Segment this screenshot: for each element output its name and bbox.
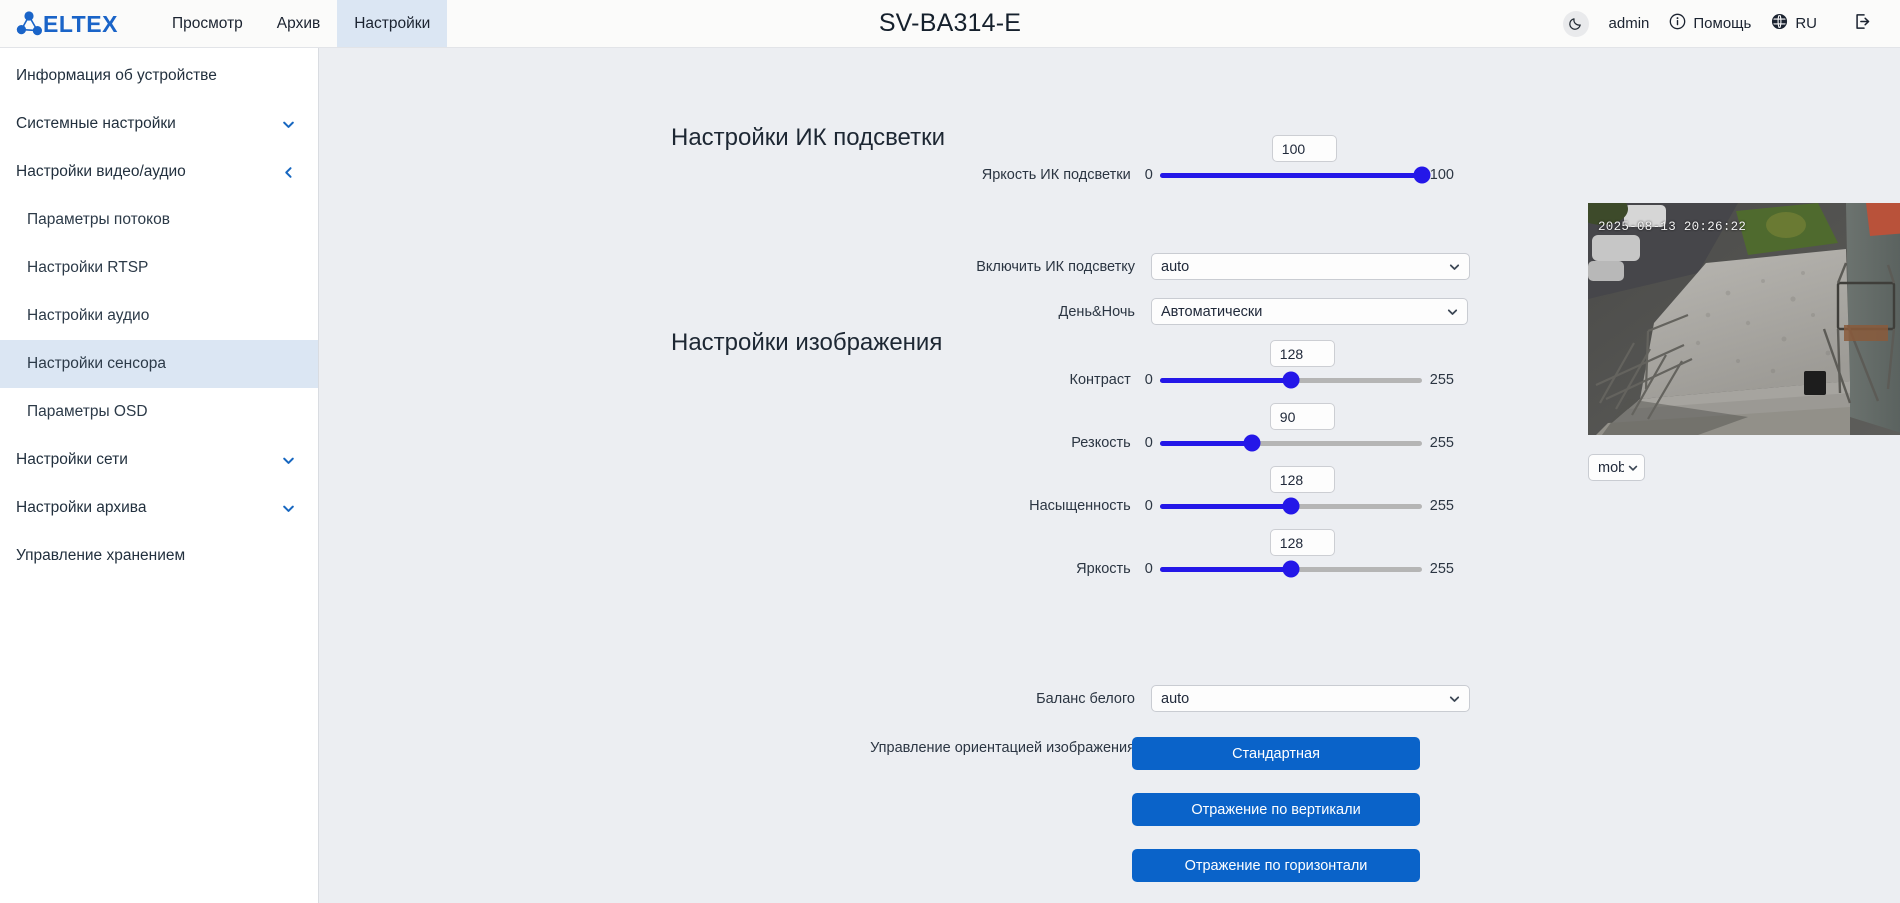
sidebar-item-1[interactable]: Системные настройки: [0, 100, 318, 148]
sidebar-item-label: Настройки архива: [16, 499, 281, 517]
ir-enable-label: Включить ИК подсветку: [939, 259, 1135, 275]
camera-feed-image: [1588, 203, 1900, 435]
sidebar-item-label: Настройки сенсора: [27, 355, 296, 373]
language-switcher[interactable]: RU: [1761, 0, 1827, 48]
image-slider-label: Резкость: [954, 435, 1131, 451]
help-button[interactable]: Помощь: [1659, 0, 1761, 48]
slider-fill: [1160, 173, 1422, 178]
slider-max-label: 255: [1430, 435, 1454, 451]
sidebar-item-label: Настройки аудио: [27, 307, 296, 325]
slider-max-label: 100: [1430, 167, 1454, 183]
slider-track[interactable]: [1160, 441, 1422, 446]
image-slider-value-input[interactable]: 128: [1270, 529, 1335, 556]
slider-fill: [1160, 567, 1292, 572]
slider-track[interactable]: [1160, 567, 1422, 572]
tab-label: Настройки: [354, 15, 430, 33]
white-balance-row: Баланс белого auto: [939, 685, 1470, 712]
slider-min-label: 0: [1145, 561, 1153, 577]
image-slider[interactable]: 0128255: [1145, 497, 1454, 515]
ir-brightness-label: Яркость ИК подсветки: [954, 167, 1131, 183]
eltex-logo-icon: ELTEX: [16, 10, 137, 38]
orientation-button-0[interactable]: Стандартная: [1132, 737, 1420, 770]
image-slider-label: Насыщенность: [954, 498, 1131, 514]
sidebar-item-label: Настройки сети: [16, 451, 281, 469]
value-text: 90: [1280, 409, 1296, 425]
value-text: 128: [1280, 535, 1303, 551]
slider-min-label: 0: [1145, 167, 1153, 183]
stream-select[interactable]: mob: [1588, 454, 1645, 481]
day-night-select-wrap: Автоматически: [1151, 298, 1468, 325]
logout-icon: [1853, 12, 1872, 35]
osd-timestamp: 2025-08-13 20:26:22: [1598, 220, 1746, 234]
tab-label: Просмотр: [172, 15, 243, 33]
sidebar-item-10[interactable]: Управление хранением: [0, 532, 318, 580]
image-slider-row-0: Контраст0128255: [954, 371, 1454, 389]
primary-nav: Просмотр Архив Настройки: [155, 0, 447, 47]
slider-thumb[interactable]: [1283, 561, 1300, 578]
sidebar-item-label: Системные настройки: [16, 115, 281, 133]
sidebar-item-label: Параметры потоков: [27, 211, 296, 229]
app-body: Информация об устройствеСистемные настро…: [0, 48, 1900, 903]
info-icon: [1669, 13, 1686, 34]
slider-fill: [1160, 378, 1292, 383]
value-text: 128: [1280, 472, 1303, 488]
sidebar-item-6[interactable]: Настройки сенсора: [0, 340, 318, 388]
tab-prosmotr[interactable]: Просмотр: [155, 0, 260, 47]
white-balance-select[interactable]: auto: [1151, 685, 1470, 712]
dark-mode-toggle[interactable]: [1553, 0, 1599, 48]
slider-max-label: 255: [1430, 372, 1454, 388]
value-text: 100: [1282, 141, 1305, 157]
ir-brightness-value-input[interactable]: 100: [1272, 135, 1337, 162]
slider-min-label: 0: [1145, 435, 1153, 451]
ir-brightness-row: Яркость ИК подсветки 0 100 100: [954, 166, 1454, 184]
tab-arhiv[interactable]: Архив: [260, 0, 337, 47]
main-content: Настройки ИК подсветки Яркость ИК подсве…: [319, 48, 1900, 903]
eltex-logo[interactable]: ELTEX: [0, 0, 155, 47]
orientation-button-2[interactable]: Отражение по горизонтали: [1132, 849, 1420, 882]
sidebar-item-9[interactable]: Настройки архива: [0, 484, 318, 532]
slider-min-label: 0: [1145, 372, 1153, 388]
moon-icon: [1563, 11, 1589, 37]
sidebar-item-label: Управление хранением: [16, 547, 296, 565]
tab-label: Архив: [277, 15, 320, 33]
slider-track[interactable]: [1160, 378, 1422, 383]
sidebar-item-label: Настройки RTSP: [27, 259, 296, 277]
image-section-title: Настройки изображения: [671, 329, 942, 357]
video-preview[interactable]: 2025-08-13 20:26:22: [1588, 203, 1900, 435]
sidebar-item-3[interactable]: Параметры потоков: [0, 196, 318, 244]
sidebar-item-7[interactable]: Параметры OSD: [0, 388, 318, 436]
orientation-button-1[interactable]: Отражение по вертикали: [1132, 793, 1420, 826]
image-slider[interactable]: 0128255: [1145, 371, 1454, 389]
sidebar-item-4[interactable]: Настройки RTSP: [0, 244, 318, 292]
slider-min-label: 0: [1145, 498, 1153, 514]
language-label: RU: [1795, 15, 1817, 32]
chevron-down-icon[interactable]: [281, 453, 296, 468]
image-slider-value-input[interactable]: 90: [1270, 403, 1335, 430]
sidebar-item-0[interactable]: Информация об устройстве: [0, 52, 318, 100]
stream-select-wrap: mob: [1588, 454, 1645, 481]
image-slider-label: Контраст: [954, 372, 1131, 388]
globe-icon: [1771, 13, 1788, 34]
help-label: Помощь: [1693, 15, 1751, 32]
day-night-row: День&Ночь Автоматически: [939, 298, 1468, 325]
slider-thumb[interactable]: [1413, 167, 1430, 184]
ir-enable-row: Включить ИК подсветку auto: [939, 253, 1470, 280]
slider-thumb[interactable]: [1283, 372, 1300, 389]
slider-fill: [1160, 504, 1292, 509]
sidebar-item-label: Информация об устройстве: [16, 67, 296, 85]
day-night-label: День&Ночь: [939, 304, 1135, 320]
slider-track[interactable]: [1160, 504, 1422, 509]
chevron-down-icon[interactable]: [281, 501, 296, 516]
image-slider-row-1: Резкость090255: [954, 434, 1454, 452]
image-slider-value-input[interactable]: 128: [1270, 340, 1335, 367]
ir-enable-select-wrap: auto: [1151, 253, 1470, 280]
ir-enable-select[interactable]: auto: [1151, 253, 1470, 280]
username-label: admin: [1609, 15, 1650, 32]
orientation-label-row: Управление ориентацией изображения: [827, 740, 1135, 756]
current-user[interactable]: admin: [1599, 0, 1660, 48]
sidebar-item-5[interactable]: Настройки аудио: [0, 292, 318, 340]
tab-nastroyki[interactable]: Настройки: [337, 0, 447, 47]
image-slider-value-input[interactable]: 128: [1270, 466, 1335, 493]
sidebar-item-2[interactable]: Настройки видео/аудио: [0, 148, 318, 196]
white-balance-select-wrap: auto: [1151, 685, 1470, 712]
image-slider[interactable]: 090255: [1145, 434, 1454, 452]
value-text: 128: [1280, 346, 1303, 362]
image-slider-row-3: Яркость0128255: [954, 560, 1454, 578]
slider-fill: [1160, 441, 1252, 446]
ir-section-title: Настройки ИК подсветки: [671, 124, 945, 152]
sidebar-item-label: Параметры OSD: [27, 403, 296, 421]
ir-brightness-slider[interactable]: 0 100 100: [1145, 166, 1454, 184]
video-preview-panel: 2025-08-13 20:26:22 mob: [1588, 203, 1900, 481]
chevron-down-icon[interactable]: [281, 117, 296, 132]
logout-button[interactable]: [1827, 0, 1882, 48]
slider-thumb[interactable]: [1244, 435, 1261, 452]
header-actions: admin Помощь RU: [1553, 0, 1900, 47]
chevron-left-icon[interactable]: [281, 165, 296, 180]
slider-track[interactable]: [1160, 173, 1422, 178]
day-night-select[interactable]: Автоматически: [1151, 298, 1468, 325]
slider-max-label: 255: [1430, 498, 1454, 514]
sidebar-item-8[interactable]: Настройки сети: [0, 436, 318, 484]
white-balance-label: Баланс белого: [939, 691, 1135, 707]
slider-max-label: 255: [1430, 561, 1454, 577]
slider-thumb[interactable]: [1283, 498, 1300, 515]
sidebar-item-label: Настройки видео/аудио: [16, 163, 281, 181]
svg-text:ELTEX: ELTEX: [43, 11, 118, 37]
image-slider-row-2: Насыщенность0128255: [954, 497, 1454, 515]
image-slider-label: Яркость: [954, 561, 1131, 577]
image-slider[interactable]: 0128255: [1145, 560, 1454, 578]
orientation-label: Управление ориентацией изображения: [827, 740, 1135, 756]
sidebar-nav: Информация об устройствеСистемные настро…: [0, 48, 319, 903]
app-header: ELTEX Просмотр Архив Настройки SV-BA314-…: [0, 0, 1900, 48]
